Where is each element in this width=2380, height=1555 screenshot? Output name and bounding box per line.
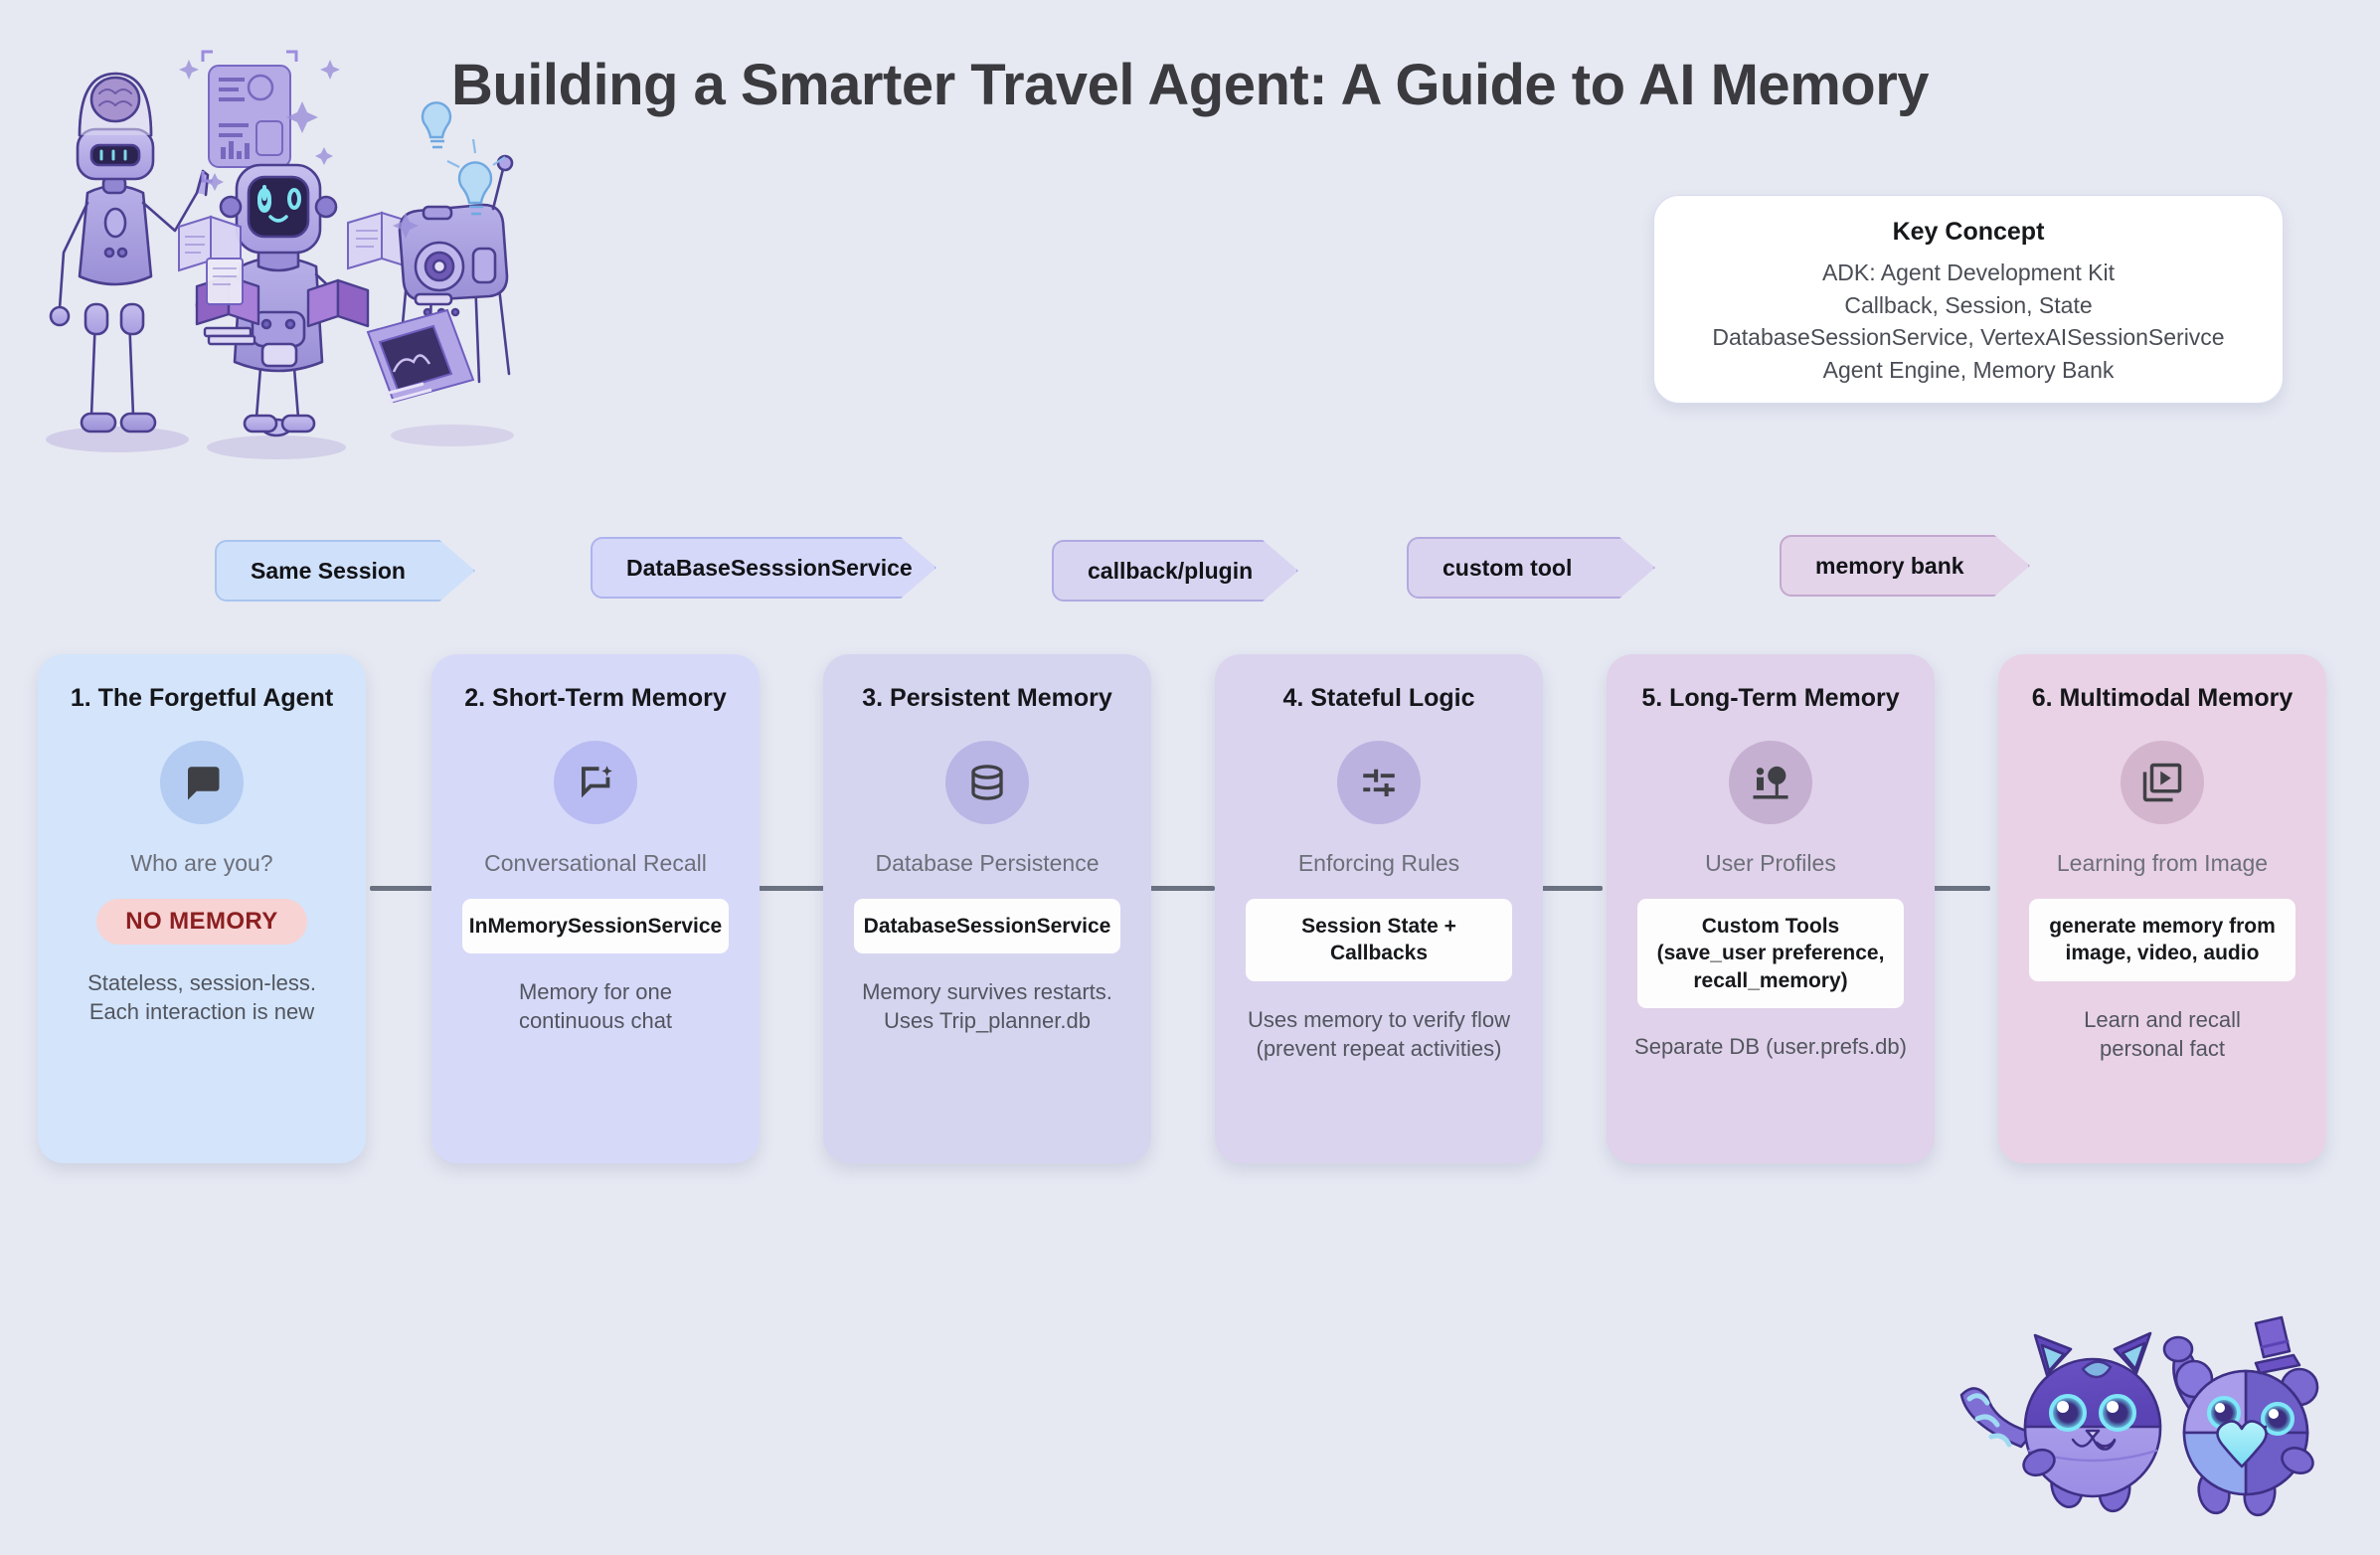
key-concept-line-1: ADK: Agent Development Kit [1822, 257, 2115, 289]
card-tech-pill-5: Custom Tools(save_user preference,recall… [1637, 899, 1904, 1008]
card-note-2: Memory for onecontinuous chat [505, 977, 686, 1035]
flow-label-3[interactable]: callback/plugin [1052, 540, 1298, 602]
connector-line-2 [758, 886, 827, 891]
card-subtitle-2: Conversational Recall [484, 850, 707, 877]
flow-label-5[interactable]: memory bank [1780, 535, 2030, 597]
memory-stage-card-6[interactable]: 6. Multimodal MemoryLearning from Imageg… [1998, 654, 2326, 1163]
card-note-6: Learn and recallpersonal fact [2070, 1005, 2255, 1063]
card-subtitle-6: Learning from Image [2057, 850, 2268, 877]
flow-label-text: memory bank [1815, 553, 1964, 580]
flow-label-text: callback/plugin [1088, 558, 1253, 585]
card-note-4: Uses memory to verify flow(prevent repea… [1234, 1005, 1524, 1063]
flow-label-1[interactable]: Same Session [215, 540, 475, 602]
flow-label-4[interactable]: custom tool [1407, 537, 1655, 599]
memory-stage-card-2[interactable]: 2. Short-Term MemoryConversational Recal… [431, 654, 760, 1163]
infographic-canvas: Building a Smarter Travel Agent: A Guide… [0, 0, 2380, 1555]
database-icon [945, 741, 1029, 824]
card-subtitle-3: Database Persistence [875, 850, 1099, 877]
connector-line-1 [370, 886, 439, 891]
key-concept-line-3: DatabaseSessionService, VertexAISessionS… [1712, 321, 2224, 354]
card-title-4: 4. Stateful Logic [1282, 684, 1474, 713]
chat-bubble-icon [160, 741, 244, 824]
video-library-icon [2121, 741, 2204, 824]
card-tech-pill-6: generate memory fromimage, video, audio [2029, 899, 2295, 981]
card-note-1: Stateless, session-less.Each interaction… [74, 968, 330, 1026]
robot-cat-mascots-illustration [1944, 1248, 2361, 1546]
card-title-6: 6. Multimodal Memory [2032, 684, 2294, 713]
memory-stage-card-3[interactable]: 3. Persistent MemoryDatabase Persistence… [823, 654, 1151, 1163]
no-memory-badge: NO MEMORY [96, 899, 307, 945]
tune-sliders-icon [1337, 741, 1421, 824]
key-concept-card: Key Concept ADK: Agent Development Kit C… [1653, 195, 2284, 404]
key-concept-line-2: Callback, Session, State [1844, 289, 2092, 322]
card-title-5: 5. Long-Term Memory [1641, 684, 1899, 713]
card-subtitle-5: User Profiles [1705, 850, 1836, 877]
chat-sparkle-icon [554, 741, 637, 824]
card-tech-pill-4: Session State + Callbacks [1246, 899, 1512, 981]
connector-line-4 [1533, 886, 1603, 891]
card-note-5: Separate DB (user.prefs.db) [1620, 1032, 1921, 1061]
card-note-3: Memory survives restarts.Uses Trip_plann… [848, 977, 1126, 1035]
card-title-1: 1. The Forgetful Agent [71, 684, 333, 713]
key-concept-line-4: Agent Engine, Memory Bank [1823, 354, 2115, 387]
flow-label-text: DataBaseSesssionService [626, 555, 913, 582]
connector-line-3 [1145, 886, 1215, 891]
card-tech-pill-2: InMemorySessionService [462, 899, 729, 953]
page-title: Building a Smarter Travel Agent: A Guide… [0, 52, 2380, 118]
key-concept-heading: Key Concept [1893, 218, 2045, 247]
memory-stage-card-5[interactable]: 5. Long-Term MemoryUser ProfilesCustom T… [1607, 654, 1935, 1163]
memory-stage-card-4[interactable]: 4. Stateful LogicEnforcing RulesSession … [1215, 654, 1543, 1163]
card-subtitle-4: Enforcing Rules [1298, 850, 1459, 877]
card-title-2: 2. Short-Term Memory [464, 684, 726, 713]
card-subtitle-1: Who are you? [130, 850, 272, 877]
memory-stage-card-1[interactable]: 1. The Forgetful AgentWho are you?NO MEM… [38, 654, 366, 1163]
flow-label-text: Same Session [251, 558, 406, 585]
nature-people-icon [1729, 741, 1812, 824]
card-title-3: 3. Persistent Memory [862, 684, 1112, 713]
flow-label-2[interactable]: DataBaseSesssionService [591, 537, 936, 599]
flow-label-text: custom tool [1443, 555, 1572, 582]
card-tech-pill-3: DatabaseSessionService [854, 899, 1120, 953]
